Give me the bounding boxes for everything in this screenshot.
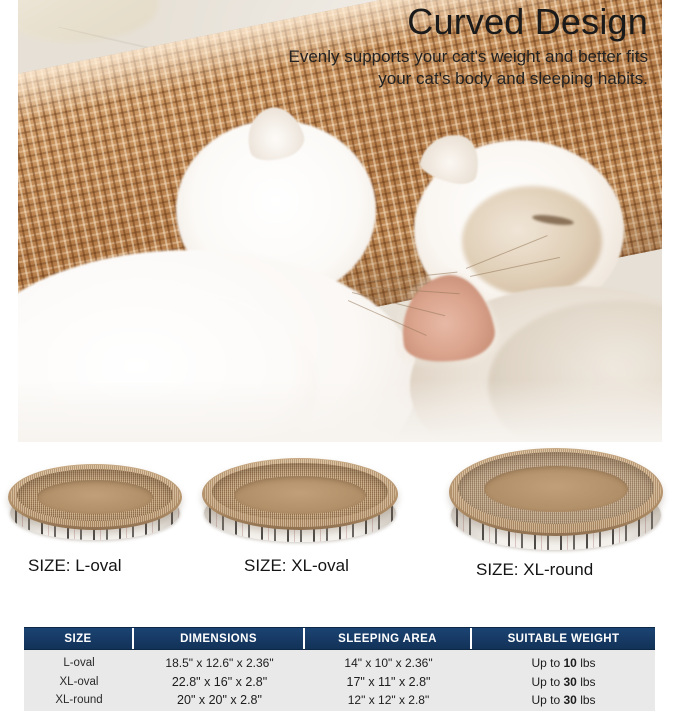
weight-value: 30	[563, 693, 576, 707]
bowl-sleeping-well	[234, 476, 366, 514]
weight-unit: lbs	[580, 656, 595, 670]
cell-suitable-weight: Up to 10 lbs	[472, 656, 655, 670]
product-label-l-oval: SIZE: L-oval	[28, 556, 122, 576]
weight-prefix: Up to	[531, 675, 560, 689]
product-label-xl-oval: SIZE: XL-oval	[244, 556, 349, 576]
column-header-size: SIZE	[24, 628, 134, 649]
cell-size: XL-round	[24, 694, 134, 706]
weight-value: 30	[563, 675, 576, 689]
cell-dimensions: 18.5" x 12.6" x 2.36"	[134, 656, 305, 670]
product-variants-row: SIZE: L-oval SIZE: XL-oval SIZE: XL-roun…	[0, 442, 679, 622]
cell-dimensions: 20" x 20" x 2.8"	[134, 693, 305, 707]
table-row: XL-oval 22.8" x 16" x 2.8" 17" x 11" x 2…	[24, 673, 655, 691]
weight-value: 10	[563, 656, 576, 670]
table-header-row: SIZE DIMENSIONS SLEEPING AREA SUITABLE W…	[24, 627, 655, 650]
cell-suitable-weight: Up to 30 lbs	[472, 693, 655, 707]
table-row: L-oval 18.5" x 12.6" x 2.36" 14" x 10" x…	[24, 654, 655, 672]
weight-prefix: Up to	[531, 656, 560, 670]
weight-prefix: Up to	[531, 693, 560, 707]
cell-size: XL-oval	[24, 676, 134, 688]
cell-sleeping-area: 17" x 11" x 2.8"	[305, 675, 472, 689]
bowl-sleeping-well	[37, 480, 153, 514]
scratcher-bowl-l-oval	[6, 460, 184, 540]
product-label-xl-round: SIZE: XL-round	[476, 560, 593, 580]
product-xl-round[interactable]: SIZE: XL-round	[448, 444, 664, 564]
cell-sleeping-area: 14" x 10" x 2.36"	[305, 656, 472, 670]
product-xl-oval[interactable]: SIZE: XL-oval	[200, 454, 400, 552]
cell-sleeping-area: 12" x 12" x 2.8"	[305, 693, 472, 707]
hero-text-block: Curved Design Evenly supports your cat's…	[278, 2, 648, 90]
cell-dimensions: 22.8" x 16" x 2.8"	[134, 675, 305, 689]
product-l-oval[interactable]: SIZE: L-oval	[6, 460, 184, 552]
photo-bottom-fade	[18, 380, 662, 442]
column-header-sleeping-area: SLEEPING AREA	[305, 628, 472, 649]
cell-size: L-oval	[24, 657, 134, 669]
cell-suitable-weight: Up to 30 lbs	[472, 675, 655, 689]
table-row: XL-round 20" x 20" x 2.8" 12" x 12" x 2.…	[24, 691, 655, 709]
scratcher-bowl-xl-round	[448, 444, 664, 550]
weight-unit: lbs	[580, 675, 595, 689]
scratcher-bowl-xl-oval	[200, 454, 400, 542]
hero-title: Curved Design	[278, 2, 648, 42]
hero-subtitle: Evenly supports your cat's weight and be…	[278, 46, 648, 90]
bowl-sleeping-well	[484, 466, 628, 512]
column-header-dimensions: DIMENSIONS	[134, 628, 305, 649]
table-body: L-oval 18.5" x 12.6" x 2.36" 14" x 10" x…	[24, 650, 655, 711]
column-header-suitable-weight: SUITABLE WEIGHT	[472, 628, 655, 649]
specifications-table: SIZE DIMENSIONS SLEEPING AREA SUITABLE W…	[24, 627, 655, 711]
hero-product-photo: Curved Design Evenly supports your cat's…	[18, 0, 662, 442]
weight-unit: lbs	[580, 693, 595, 707]
